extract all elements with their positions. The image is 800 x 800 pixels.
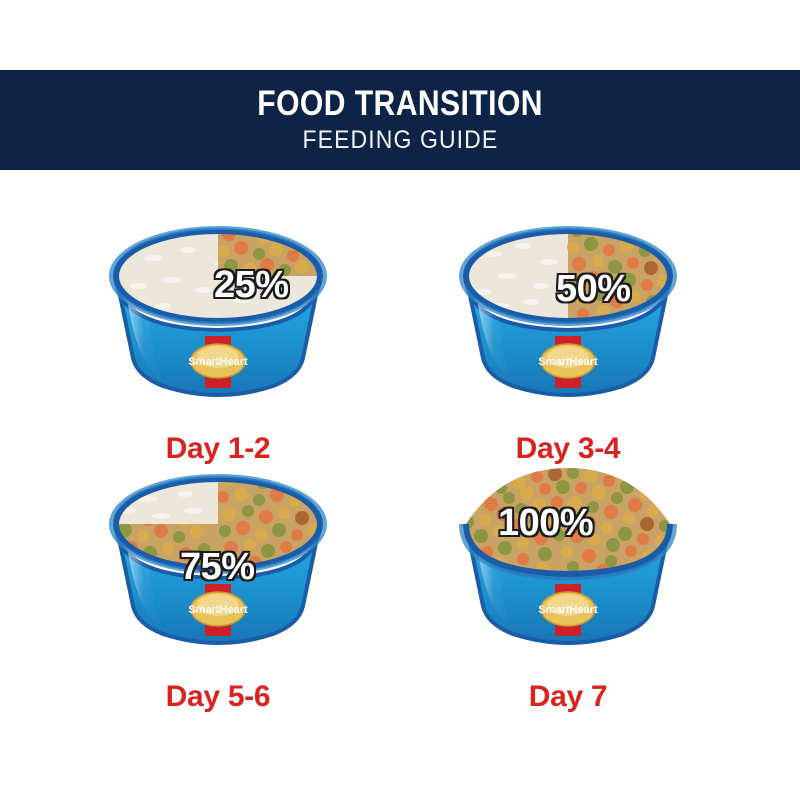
day-label: Day 7 bbox=[408, 682, 728, 712]
day-label: Day 3-4 bbox=[408, 434, 728, 464]
page-title: FOOD TRANSITION bbox=[257, 86, 543, 123]
badge-brand-text: SmartHeart bbox=[538, 604, 598, 616]
badge-brand-text: SmartHeart bbox=[188, 356, 248, 368]
day-label: Day 5-6 bbox=[58, 682, 378, 712]
day-label: Day 1-2 bbox=[58, 434, 378, 464]
food-transition-steps-grid: SmartHeart 25% Day 1-2 bbox=[0, 200, 800, 740]
dog-bowl-illustration: SmartHeart bbox=[443, 466, 693, 671]
badge-brand-text: SmartHeart bbox=[188, 604, 248, 616]
header-banner: FOOD TRANSITION FEEDING GUIDE bbox=[0, 70, 800, 170]
transition-step-card: SmartHeart 100% Day 7 bbox=[408, 466, 728, 726]
dog-bowl-illustration: SmartHeart bbox=[443, 218, 693, 423]
page-subtitle: FEEDING GUIDE bbox=[302, 127, 498, 155]
badge-brand-text: SmartHeart bbox=[538, 356, 598, 368]
percent-label: 100% bbox=[498, 504, 593, 542]
transition-step-card: SmartHeart 25% Day 1-2 bbox=[58, 218, 378, 478]
percent-label: 50% bbox=[556, 270, 631, 308]
transition-step-card: SmartHeart 50% Day 3-4 bbox=[408, 218, 728, 478]
percent-label: 25% bbox=[214, 266, 289, 304]
percent-label: 75% bbox=[180, 548, 255, 586]
transition-step-card: SmartHeart 75% Day 5-6 bbox=[58, 466, 378, 726]
dog-bowl-illustration: SmartHeart bbox=[93, 218, 343, 423]
